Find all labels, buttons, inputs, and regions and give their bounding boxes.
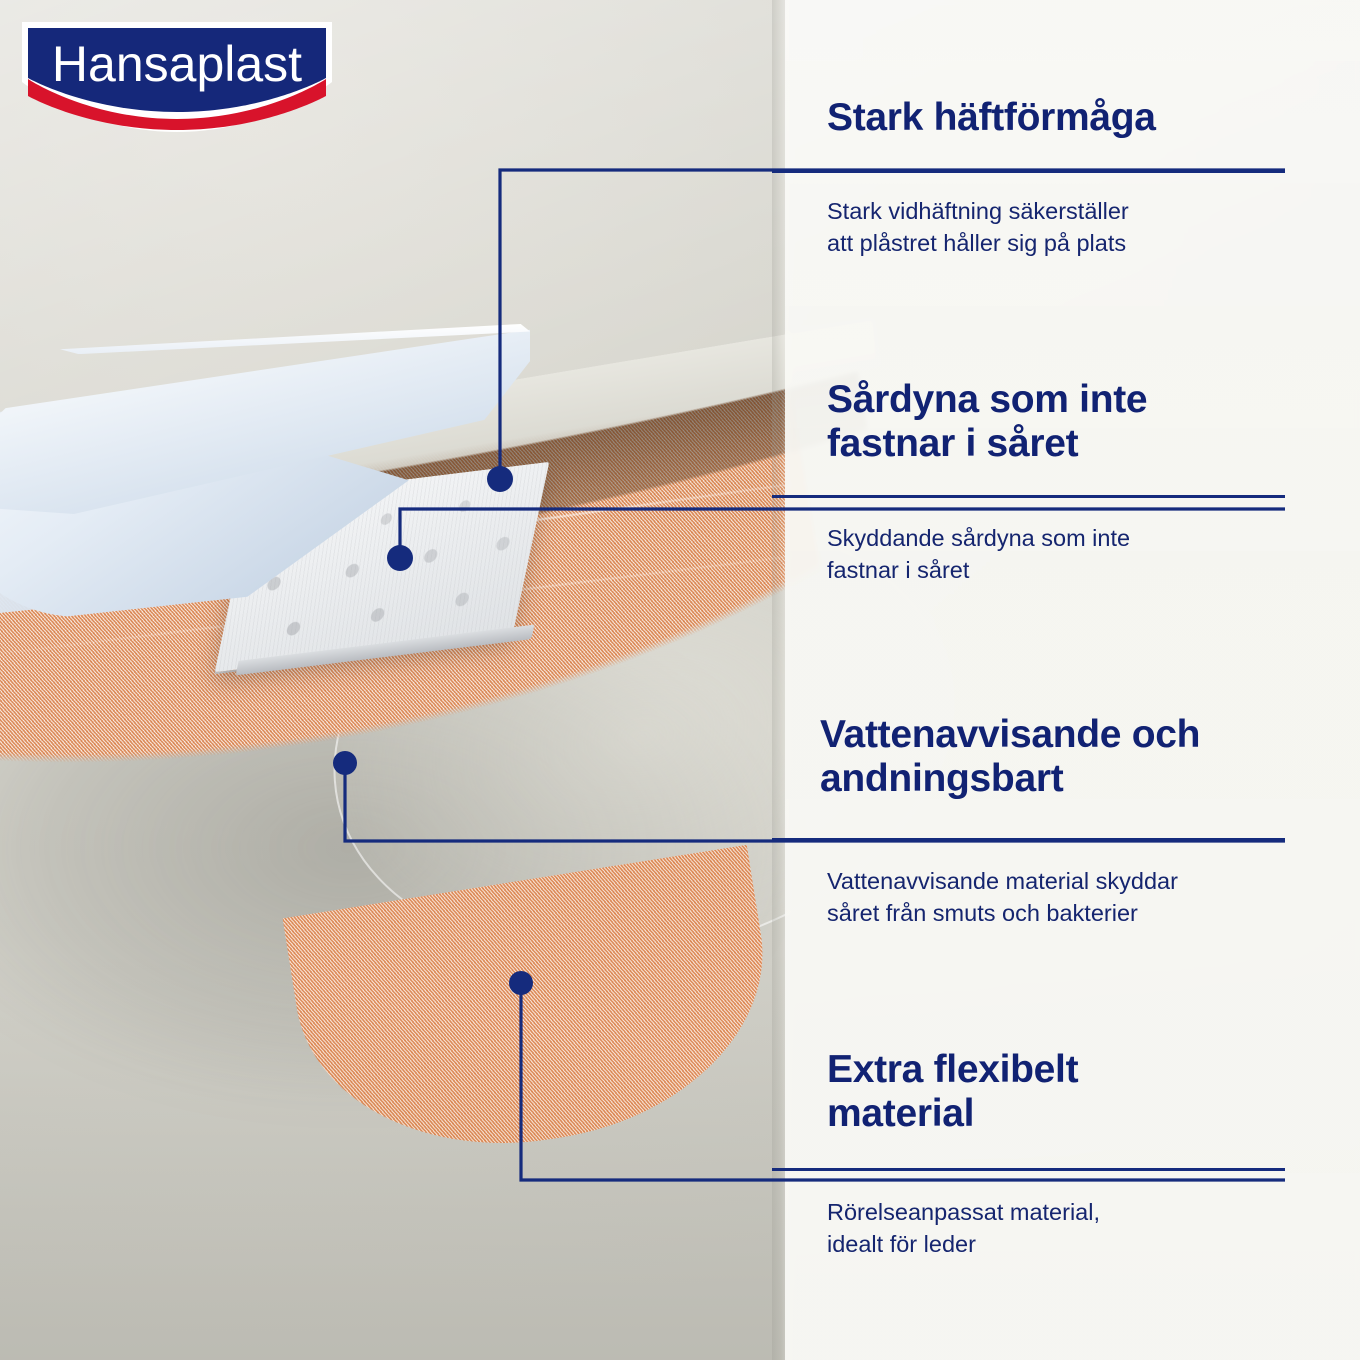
feature-block-water-repellent-breathable: Vattenavvisande och andningsbart Vattena… — [820, 713, 1290, 800]
feature-block-extra-flexible: Extra flexibelt material Rörelseanpassat… — [827, 1048, 1297, 1135]
feature-divider — [772, 170, 1285, 173]
feature-heading: Sårdyna som inte fastnar i såret — [827, 378, 1297, 465]
feature-body: Skyddande sårdyna som inte fastnar i sår… — [827, 522, 1130, 587]
feature-heading: Vattenavvisande och andningsbart — [820, 713, 1290, 800]
infographic-canvas: Hansaplast Stark häftförm — [0, 0, 1360, 1360]
product-photo-plaster — [0, 0, 880, 1160]
logo-wordmark: Hansaplast — [52, 36, 302, 92]
hansaplast-logo: Hansaplast — [18, 18, 336, 136]
feature-body: Vattenavvisande material skyddar såret f… — [827, 865, 1178, 930]
feature-divider — [772, 838, 1285, 841]
feature-heading: Extra flexibelt material — [827, 1048, 1297, 1135]
feature-body: Rörelseanpassat material, idealt för led… — [827, 1196, 1100, 1261]
feature-body: Stark vidhäftning säkerställer att plåst… — [827, 195, 1129, 260]
feature-divider — [772, 1168, 1285, 1171]
feature-divider — [772, 495, 1285, 498]
feature-heading: Stark häftförmåga — [827, 96, 1297, 140]
feature-block-strong-adhesion: Stark häftförmåga Stark vidhäftning säke… — [827, 96, 1297, 140]
feature-block-non-stick-pad: Sårdyna som inte fastnar i såret Skyddan… — [827, 378, 1297, 465]
logo-artwork: Hansaplast — [18, 18, 336, 136]
